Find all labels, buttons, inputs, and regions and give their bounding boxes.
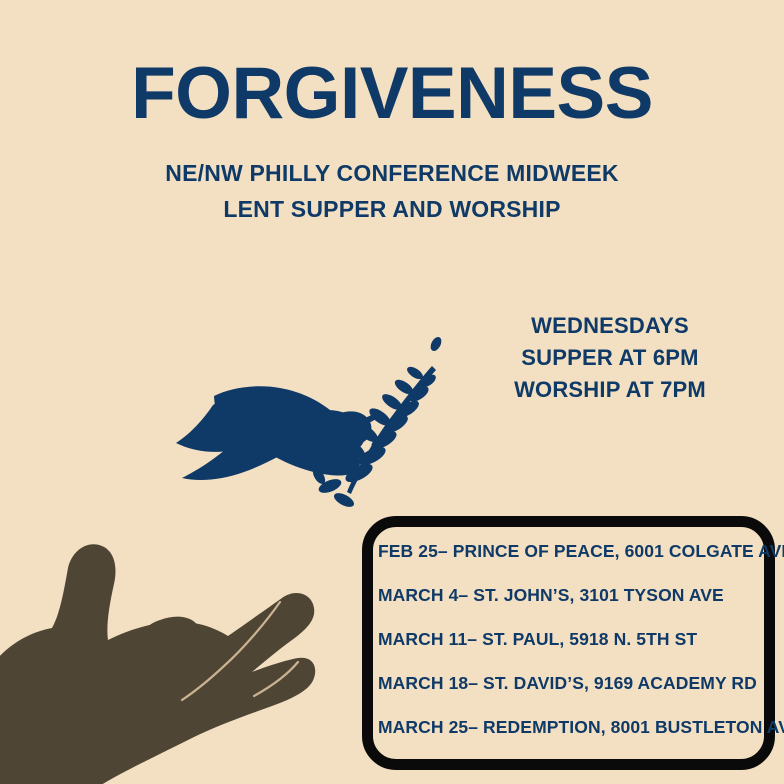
- list-item: MARCH 4– ST. JOHN’S, 3101 TYSON AVE: [378, 584, 784, 628]
- times-block: WEDNESDAYS SUPPER AT 6PM WORSHIP AT 7PM: [468, 310, 752, 406]
- times-line-worship: WORSHIP AT 7PM: [468, 374, 752, 406]
- schedule-list: FEB 25– PRINCE OF PEACE, 6001 COLGATE AV…: [378, 540, 784, 760]
- list-item: MARCH 11– ST. PAUL, 5918 N. 5TH ST: [378, 628, 784, 672]
- list-item: MARCH 18– ST. DAVID’S, 9169 ACADEMY RD: [378, 672, 784, 716]
- subtitle-line-1: NE/NW PHILLY CONFERENCE MIDWEEK: [0, 155, 784, 191]
- page-title: FORGIVENESS: [0, 57, 784, 130]
- times-line-weekday: WEDNESDAYS: [468, 310, 752, 342]
- open-hand-icon: [0, 540, 316, 784]
- times-line-supper: SUPPER AT 6PM: [468, 342, 752, 374]
- subtitle-line-2: LENT SUPPER AND WORSHIP: [0, 191, 784, 227]
- list-item: FEB 25– PRINCE OF PEACE, 6001 COLGATE AV…: [378, 540, 784, 584]
- subtitle-block: NE/NW PHILLY CONFERENCE MIDWEEK LENT SUP…: [0, 155, 784, 227]
- forgiveness-poster: FORGIVENESS NE/NW PHILLY CONFERENCE MIDW…: [0, 0, 784, 784]
- list-item: MARCH 25– REDEMPTION, 8001 BUSTLETON AVE: [378, 716, 784, 760]
- dove-with-olive-branch-icon: [170, 310, 460, 510]
